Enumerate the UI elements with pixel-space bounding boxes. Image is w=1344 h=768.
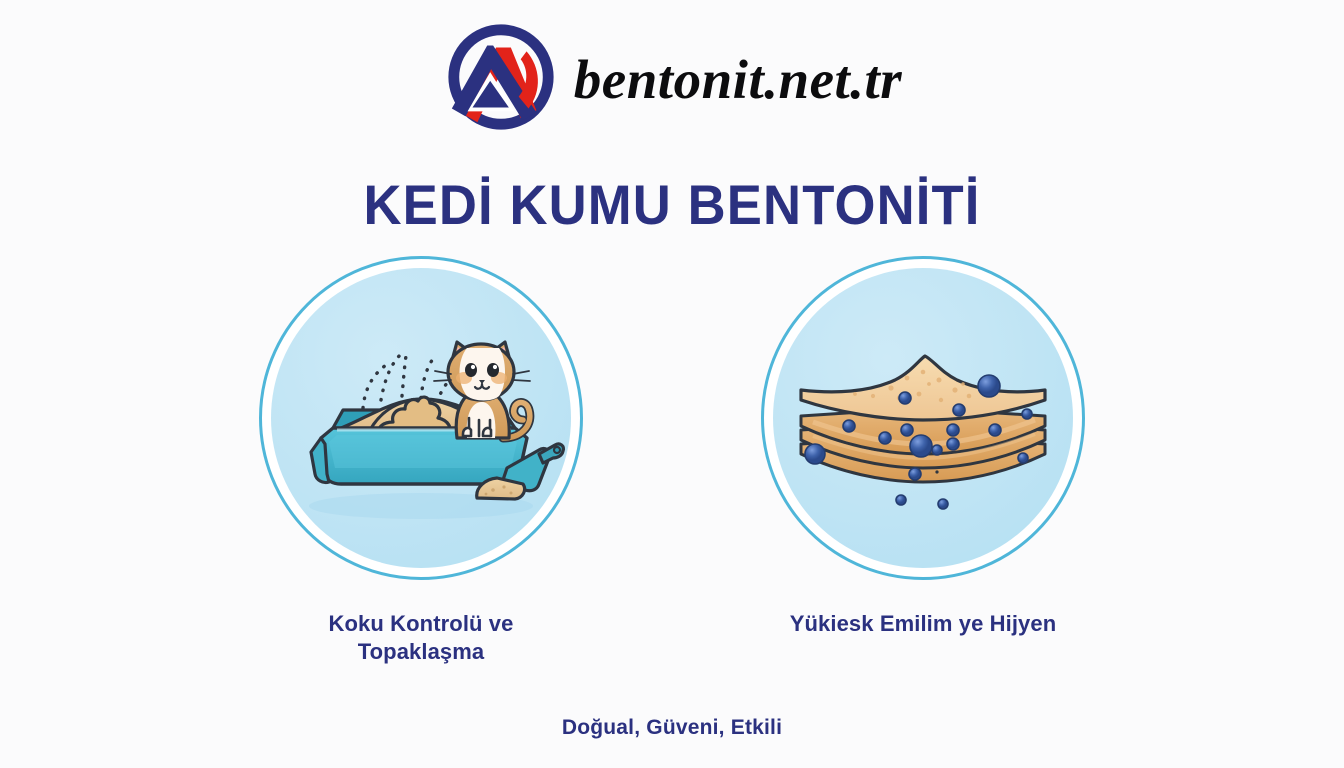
cat-litter-box-icon [271, 268, 571, 568]
feature-illustration-left [259, 256, 583, 580]
clay-layers-absorption-icon [773, 268, 1073, 568]
feature-odor-control: Koku Kontrolü ve Topaklaşma [256, 256, 586, 666]
brand-header: bentonit.net.tr [0, 18, 1344, 136]
feature-illustration-right [761, 256, 1085, 580]
feature-caption-absorption-hygiene: Yükiesk Emilim ye Hijyen [790, 610, 1057, 638]
bentonit-circle-a-logo-icon [442, 18, 560, 136]
feature-caption-odor-control: Koku Kontrolü ve Topaklaşma [329, 610, 514, 666]
tagline: Doğual, Güveni, Etkili [0, 716, 1344, 740]
poster-canvas: bentonit.net.tr KEDİ KUMU BENTONİTİ [0, 0, 1344, 768]
feature-absorption-hygiene: Yükiesk Emilim ye Hijyen [758, 256, 1088, 666]
brand-wordmark: bentonit.net.tr [574, 52, 902, 107]
page-title: KEDİ KUMU BENTONİTİ [40, 172, 1303, 237]
feature-row: Koku Kontrolü ve Topaklaşma [0, 256, 1344, 666]
